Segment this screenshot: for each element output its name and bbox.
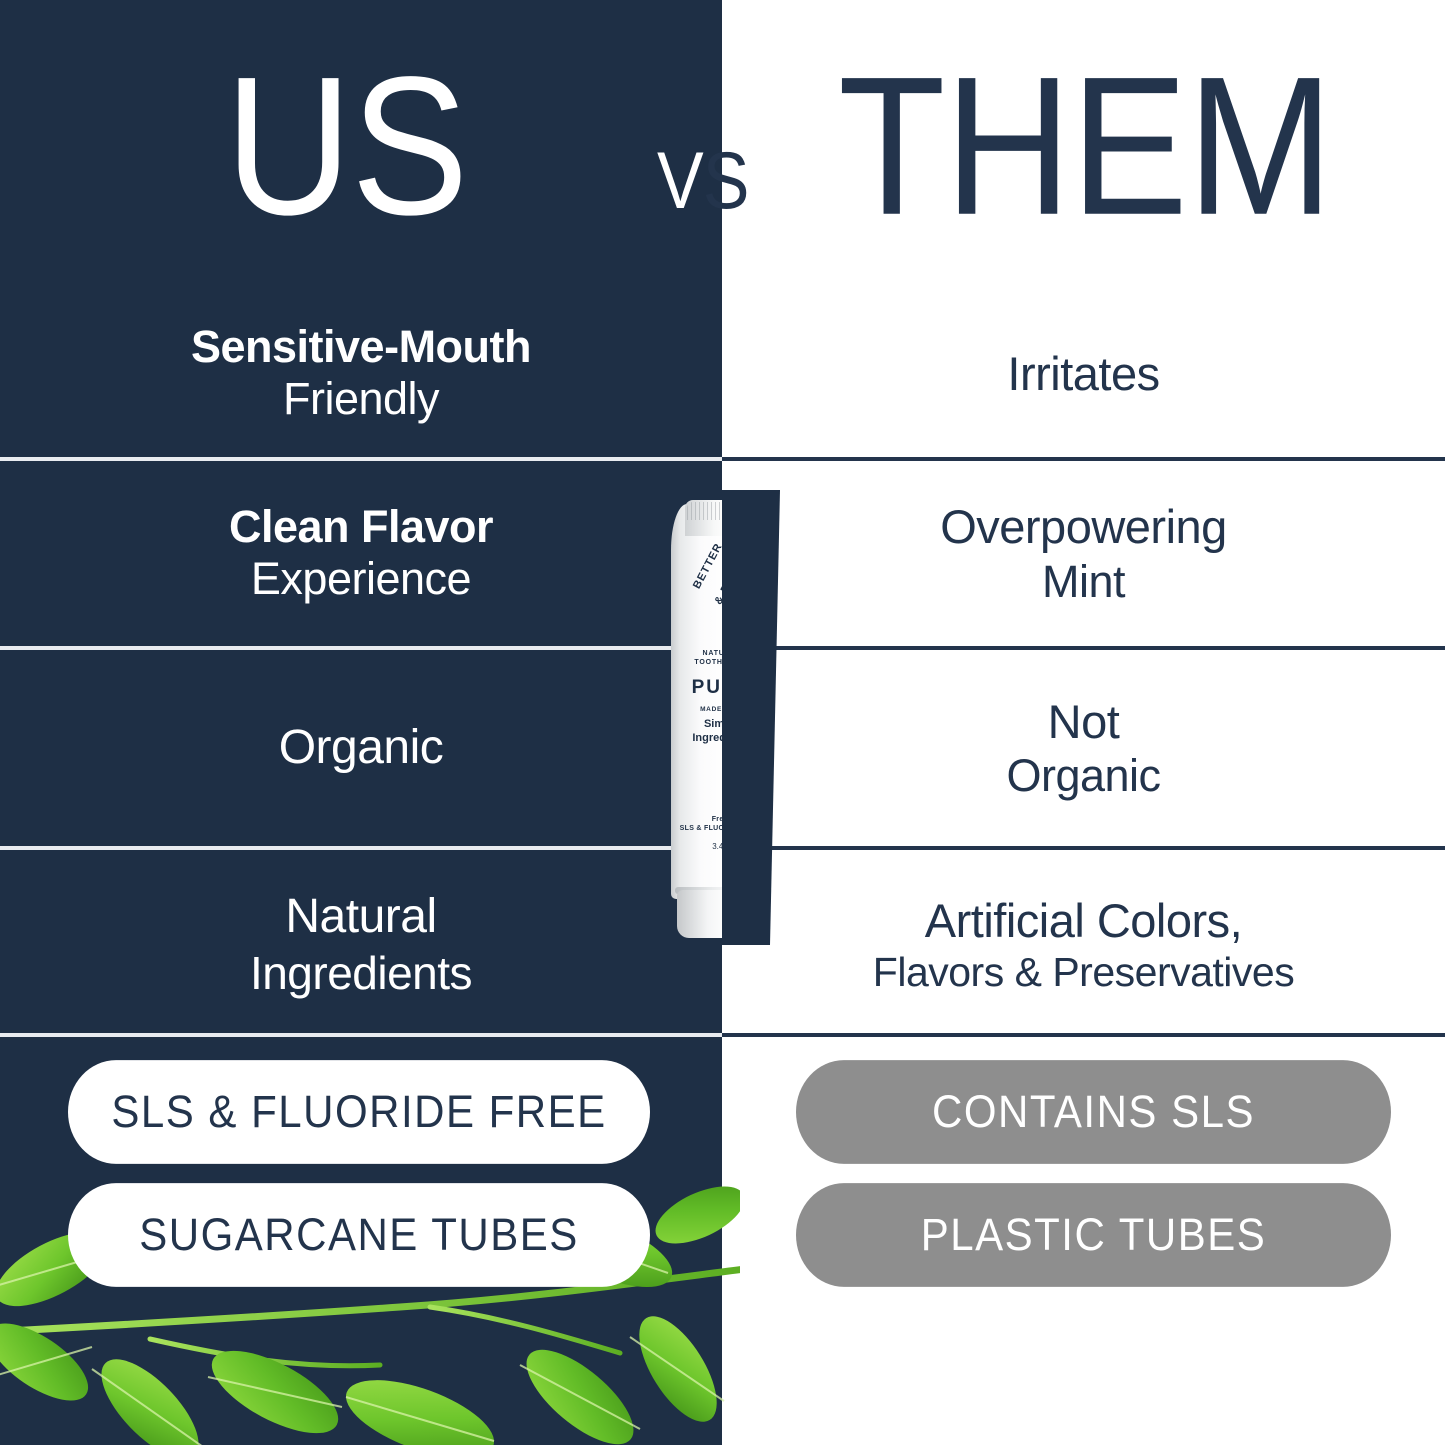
row-them-primary: Irritates bbox=[1007, 346, 1159, 401]
row-them-primary: Artificial Colors, bbox=[925, 893, 1242, 948]
row-us-secondary: Friendly bbox=[283, 372, 439, 425]
row-us-primary: Natural bbox=[285, 889, 436, 946]
comparison-infographic: US VS THEM Sensitive-Mouth Friendly Irri… bbox=[0, 0, 1445, 1445]
row-us-primary: Organic bbox=[279, 720, 444, 777]
row-them-secondary: Flavors & Preservatives bbox=[873, 948, 1294, 996]
row-them-secondary: Mint bbox=[1042, 555, 1125, 608]
row-them-cell: Irritates bbox=[722, 290, 1445, 457]
them-pill-plastic-tubes[interactable]: PLASTIC TUBES bbox=[796, 1183, 1391, 1287]
row-us-primary: Clean Flavor bbox=[229, 502, 493, 552]
bottom-section: SLS & FLUORIDE FREE SUGARCANE TUBES CONT… bbox=[0, 1037, 1445, 1445]
product-tube: BETTER & BETTER NATURAL TOOTHPASTE PURE … bbox=[663, 498, 781, 938]
us-pill-sls-fluoride-free[interactable]: SLS & FLUORIDE FREE bbox=[68, 1060, 650, 1164]
them-pill-contains-sls[interactable]: CONTAINS SLS bbox=[796, 1060, 1391, 1164]
them-pill-list: CONTAINS SLS PLASTIC TUBES bbox=[796, 1037, 1391, 1283]
row-us-secondary: Ingredients bbox=[250, 946, 472, 1000]
row-them-cell: Overpowering Mint bbox=[722, 461, 1445, 646]
row-us-primary: Sensitive-Mouth bbox=[191, 322, 531, 372]
row-them-cell: Not Organic bbox=[722, 650, 1445, 846]
row-us-cell: Sensitive-Mouth Friendly bbox=[0, 290, 722, 457]
us-pill-sugarcane-tubes[interactable]: SUGARCANE TUBES bbox=[68, 1183, 650, 1287]
comparison-row: Sensitive-Mouth Friendly Irritates bbox=[0, 290, 1445, 457]
row-them-primary: Overpowering bbox=[940, 499, 1227, 554]
us-pill-list: SLS & FLUORIDE FREE SUGARCANE TUBES bbox=[68, 1037, 650, 1283]
row-us-cell: Natural Ingredients bbox=[0, 850, 722, 1039]
row-us-cell: Clean Flavor Experience bbox=[0, 461, 722, 646]
row-us-secondary: Experience bbox=[251, 552, 471, 605]
row-them-primary: Not bbox=[1048, 694, 1120, 749]
row-them-secondary: Organic bbox=[1006, 749, 1160, 802]
row-them-cell: Artificial Colors, Flavors & Preservativ… bbox=[722, 850, 1445, 1039]
row-us-cell: Organic bbox=[0, 650, 722, 846]
